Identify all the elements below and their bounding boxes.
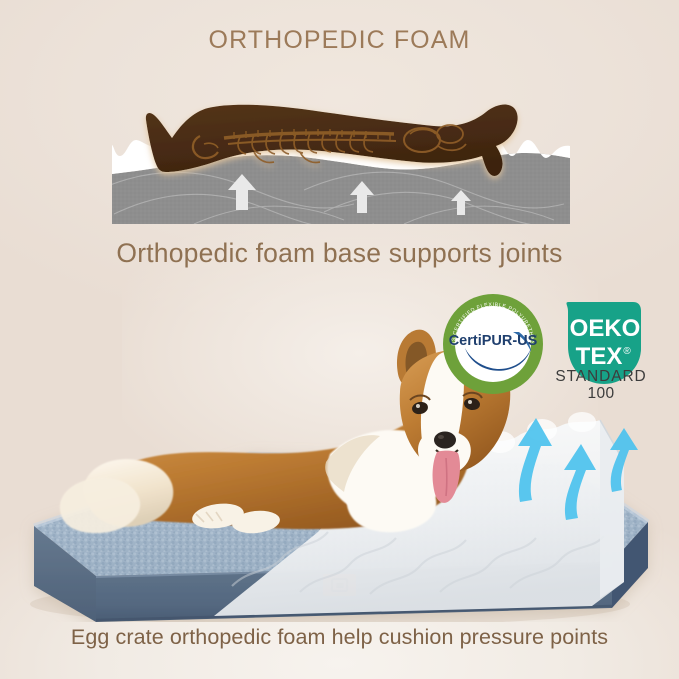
- oeko-tex-line1: OEKO: [570, 315, 641, 342]
- certipur-us-badge: CONTAINS CERTIFIED FLEXIBLE POLYURETHANE…: [441, 292, 545, 396]
- oeko-tex-line2: TEX: [576, 343, 623, 370]
- oeko-tex-standard-label: STANDARD 100: [543, 368, 659, 402]
- infographic-page: ORTHOPEDIC FOAM: [0, 0, 679, 679]
- oeko-standard-number: 100: [543, 385, 659, 402]
- certipur-wordmark: CertiPUR-US: [449, 333, 538, 349]
- dog-nose: [434, 432, 456, 449]
- certipur-trademark: ™: [532, 334, 537, 340]
- caption-orthopedic-support: Orthopedic foam base supports joints: [0, 238, 679, 269]
- orthopedic-foam-diagram: [104, 82, 578, 234]
- caption-egg-crate: Egg crate orthopedic foam help cushion p…: [0, 625, 679, 650]
- oeko-standard-word: STANDARD: [555, 368, 646, 385]
- page-title: ORTHOPEDIC FOAM: [0, 26, 679, 55]
- oeko-tex-registered: ®: [623, 346, 631, 357]
